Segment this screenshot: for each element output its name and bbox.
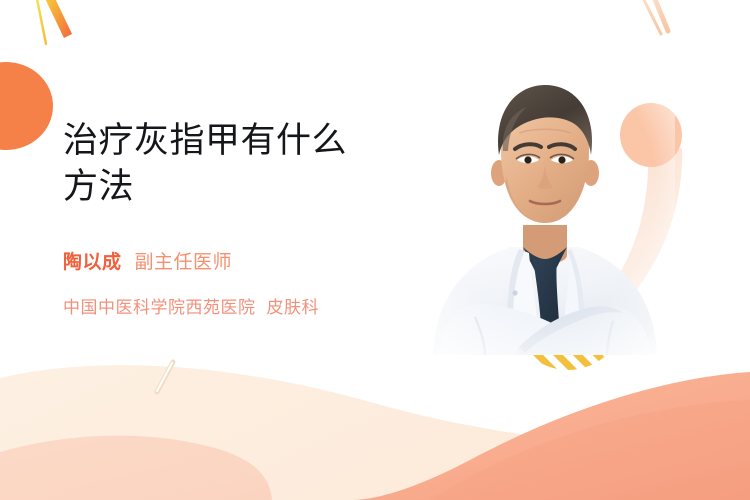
orange-circle-icon [0,62,53,150]
doctor-credentials: 陶以成 副主任医师 [63,247,232,274]
page-title: 治疗灰指甲有什么 方法 [63,118,413,210]
top-right-stroke-a [641,0,661,34]
salmon-wave-small [0,436,272,500]
doctor-title: 副主任医师 [135,247,233,274]
hospital-name: 中国中医科学院西苑医院 [63,298,256,317]
top-right-stroke-b [652,0,668,31]
top-left-stroke-yellow [36,0,46,44]
light-peach-wave [0,365,750,500]
doctor-intro-card: 治疗灰指甲有什么 方法 陶以成 副主任医师 中国中医科学院西苑医院皮肤科 [0,0,750,500]
salmon-wave [350,372,750,500]
outlined-diagonal-stroke [157,362,173,392]
doctor-portrait-photo [415,55,675,355]
salmon-wave-overlap [430,400,750,500]
doctor-affiliation: 中国中医科学院西苑医院皮肤科 [63,293,319,318]
department-name: 皮肤科 [267,298,320,317]
outlined-diagonal-stroke-inner [157,363,172,391]
top-left-stroke-orange [46,0,68,36]
doctor-name: 陶以成 [63,247,122,274]
